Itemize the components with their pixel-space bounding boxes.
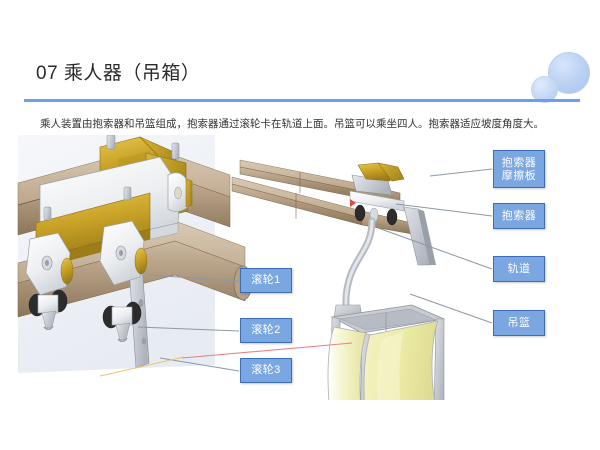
- callout-friction-plate-line2: 摩擦板: [502, 170, 537, 183]
- page-title: 07 乘人器（吊箱）: [36, 58, 200, 85]
- title-divider: [24, 99, 580, 102]
- body-paragraph: 乘人装置由抱索器和吊篮组成，抱索器通过滚轮卡在轨道上面。吊篮可以乘坐四人。抱索器…: [40, 117, 570, 132]
- callout-track[interactable]: 轨道: [493, 256, 545, 282]
- decorative-circle-large: [548, 52, 590, 94]
- callout-friction-plate[interactable]: 抱索器 摩擦板: [493, 150, 545, 188]
- callout-roller-2[interactable]: 滚轮2: [240, 318, 292, 343]
- callout-grip[interactable]: 抱索器: [493, 203, 545, 229]
- grip-mechanism-assembly: [18, 135, 252, 373]
- callout-roller-1[interactable]: 滚轮1: [240, 268, 292, 293]
- callout-friction-plate-line1: 抱索器: [502, 157, 537, 170]
- callout-roller-3[interactable]: 滚轮3: [240, 358, 292, 383]
- callout-cabin[interactable]: 吊篮: [493, 310, 545, 336]
- slide-canvas: 07 乘人器（吊箱） 乘人装置由抱索器和吊篮组成，抱索器通过滚轮卡在轨道上面。吊…: [0, 0, 600, 450]
- tower-leg: [404, 207, 436, 265]
